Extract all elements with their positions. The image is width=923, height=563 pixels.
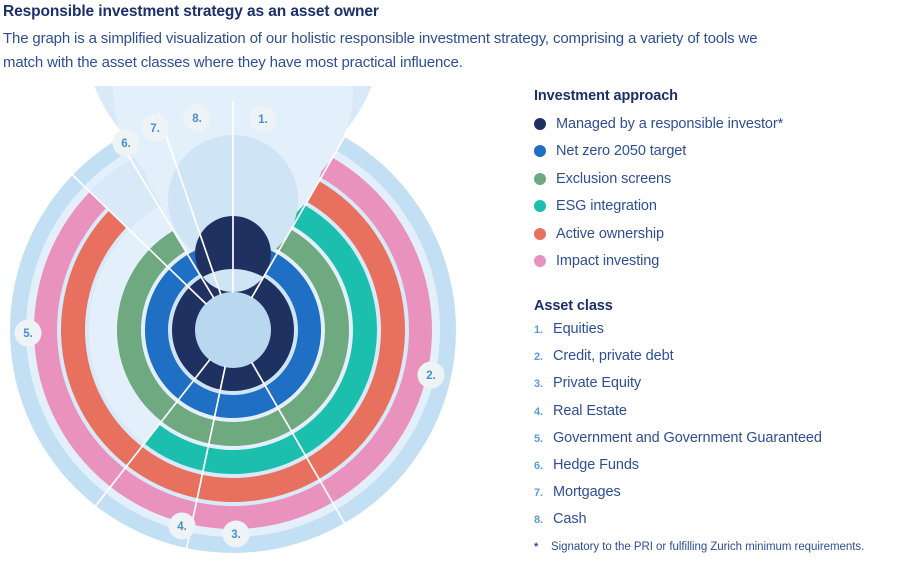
asset-class-label: Mortgages — [553, 483, 621, 501]
asset-class-label: Private Equity — [553, 374, 641, 392]
sector-badge-label: 8. — [192, 113, 202, 125]
legend-item-label: Managed by a responsible investor* — [556, 115, 783, 133]
asset-class-number: 1. — [534, 324, 553, 336]
asset-class-label: Government and Government Guaranteed — [553, 429, 822, 447]
legend-item-asset-class: 2.Credit, private debt — [534, 347, 923, 374]
legend-item-label: Impact investing — [556, 252, 659, 270]
asset-class-number: 7. — [534, 487, 553, 499]
legend-item-approach: ESG integration — [534, 193, 923, 221]
legend-swatch-icon — [534, 255, 546, 267]
legend-item-label: Active ownership — [556, 225, 664, 243]
legend-item-approach: Net zero 2050 target — [534, 138, 923, 166]
legend-item-approach: Active ownership — [534, 220, 923, 248]
sector-badge-label: 7. — [150, 123, 160, 135]
legend-swatch-icon — [534, 145, 546, 157]
asset-class-number: 2. — [534, 351, 553, 363]
footnote: * Signatory to the PRI or fulfilling Zur… — [534, 540, 923, 555]
radial-chart: 1.2.3.4.5.6.7.8. — [0, 86, 500, 563]
asset-class-number: 6. — [534, 460, 553, 472]
legend-item-approach: Managed by a responsible investor* — [534, 110, 923, 138]
legend: Investment approach Managed by a respons… — [534, 88, 923, 538]
legend-item-asset-class: 6.Hedge Funds — [534, 456, 923, 483]
asset-class-label: Equities — [553, 320, 604, 338]
asset-class-number: 8. — [534, 514, 553, 526]
legend-item-label: Exclusion screens — [556, 170, 671, 188]
page-subtitle: The graph is a simplified visualization … — [3, 27, 763, 75]
asset-class-label: Credit, private debt — [553, 347, 674, 365]
sector-badge-label: 1. — [258, 114, 268, 126]
header: Responsible investment strategy as an as… — [3, 0, 763, 75]
legend-item-approach: Impact investing — [534, 248, 923, 276]
sector-badge-label: 5. — [23, 328, 33, 340]
legend-swatch-icon — [534, 228, 546, 240]
legend-item-label: ESG integration — [556, 197, 657, 215]
legend-item-asset-class: 4.Real Estate — [534, 402, 923, 429]
asset-class-number: 4. — [534, 406, 553, 418]
asset-class-number: 5. — [534, 433, 553, 445]
investment-approach-heading: Investment approach — [534, 88, 923, 104]
legend-item-asset-class: 8.Cash — [534, 510, 923, 537]
asset-class-heading: Asset class — [534, 298, 923, 314]
asset-class-number: 3. — [534, 378, 553, 390]
sector-badge-label: 6. — [121, 138, 131, 150]
radial-chart-container: 1.2.3.4.5.6.7.8. — [0, 86, 500, 563]
asset-class-label: Cash — [553, 510, 586, 528]
legend-swatch-icon — [534, 173, 546, 185]
asset-class-label: Hedge Funds — [553, 456, 639, 474]
sector-badge-label: 4. — [177, 521, 187, 533]
page-title: Responsible investment strategy as an as… — [3, 2, 763, 22]
asset-class-label: Real Estate — [553, 402, 627, 420]
legend-item-asset-class: 7.Mortgages — [534, 483, 923, 510]
sector-badge-label: 2. — [426, 370, 436, 382]
footnote-marker: * — [534, 541, 551, 553]
legend-item-label: Net zero 2050 target — [556, 142, 686, 160]
infographic-page: Responsible investment strategy as an as… — [0, 0, 923, 563]
investment-approach-list: Managed by a responsible investor*Net ze… — [534, 110, 923, 275]
legend-swatch-icon — [534, 200, 546, 212]
legend-swatch-icon — [534, 118, 546, 130]
legend-item-asset-class: 3.Private Equity — [534, 374, 923, 401]
legend-item-asset-class: 5.Government and Government Guaranteed — [534, 429, 923, 456]
legend-item-asset-class: 1.Equities — [534, 320, 923, 347]
legend-item-approach: Exclusion screens — [534, 165, 923, 193]
sector-badge-label: 3. — [231, 529, 241, 541]
footnote-text: Signatory to the PRI or fulfilling Zuric… — [551, 540, 864, 555]
asset-class-list: 1.Equities2.Credit, private debt3.Privat… — [534, 320, 923, 538]
